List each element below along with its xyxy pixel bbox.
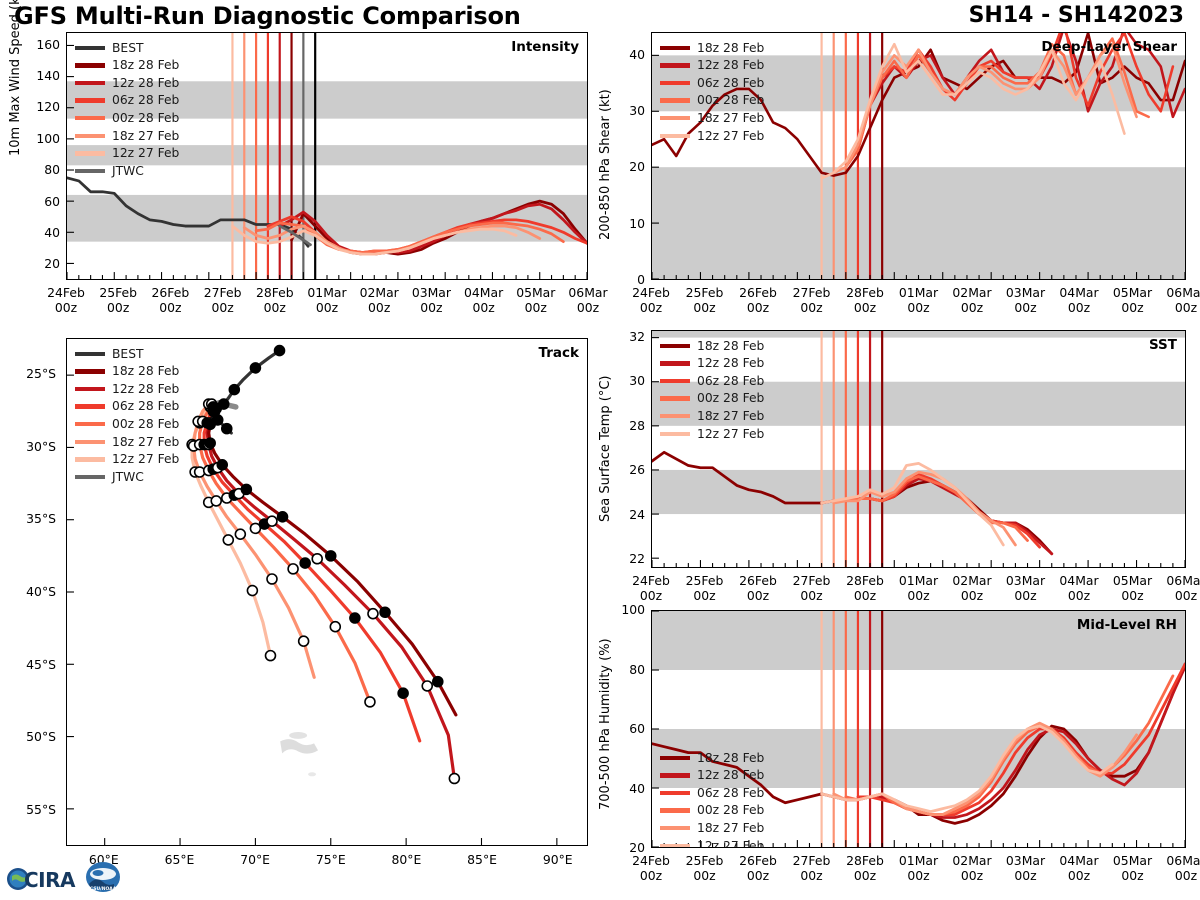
legend-label: 12z 27 Feb [112,147,179,159]
track-marker [365,697,375,707]
shear-panel-title: Deep-Layer Shear [1041,39,1177,55]
track-y-tick-label: 35°S [4,511,56,526]
legend-label: JTWC [112,471,144,483]
landmass [308,772,316,776]
legend-item-06z-28-feb: 06z 28 Feb [660,372,764,390]
legend-label: 12z 27 Feb [697,840,764,848]
legend-label: BEST [112,42,144,54]
rh-panel: Mid-Level RH 18z 28 Feb12z 28 Feb06z 28 … [651,610,1186,848]
legend-item-jtwc: JTWC [75,162,179,180]
track-panel: Track BEST18z 28 Feb12z 28 Feb06z 28 Feb… [66,338,588,846]
legend-swatch-icon [660,134,690,138]
legend-label: 12z 28 Feb [697,357,764,369]
legend-label: 18z 28 Feb [697,340,764,352]
intensity-y-tick-label: 20 [20,256,60,271]
cira-logo: CIRA CSU/NOAA [5,855,123,899]
legend-label: 18z 28 Feb [112,365,179,377]
intensity-y-tick-label: 40 [20,225,60,240]
track-marker [422,681,432,691]
track-x-tick-label: 65°E [145,852,213,867]
intensity-panel: Intensity BEST18z 28 Feb12z 28 Feb06z 28… [66,32,588,280]
sst-panel-title: SST [1149,337,1177,353]
track-marker [229,385,239,395]
legend-label: JTWC [112,165,144,177]
legend-item-06z-28-feb: 06z 28 Feb [75,398,179,416]
legend-item-best: BEST [75,345,179,363]
track-marker [326,551,336,561]
intensity-panel-title: Intensity [511,39,579,55]
track-marker [398,688,408,698]
sst-panel: SST 18z 28 Feb12z 28 Feb06z 28 Feb00z 28… [651,330,1186,568]
legend-item-12z-28-feb: 12z 28 Feb [660,57,764,75]
legend-item-18z-27-feb: 18z 27 Feb [660,407,764,425]
track-marker [299,636,309,646]
legend-item-06z-28-feb: 06z 28 Feb [75,92,179,110]
legend-item-18z-27-feb: 18z 27 Feb [660,109,764,127]
legend-label: 06z 28 Feb [112,94,179,106]
shear-panel: Deep-Layer Shear 18z 28 Feb12z 28 Feb06z… [651,32,1186,280]
legend-label: 18z 27 Feb [112,436,179,448]
rh-y-tick-label: 100 [605,602,645,617]
legend-item-12z-28-feb: 12z 28 Feb [75,380,179,398]
shear-legend: 18z 28 Feb12z 28 Feb06z 28 Feb00z 28 Feb… [660,39,764,145]
storm-identifier: SH14 - SH142023 [969,3,1184,28]
legend-label: 18z 27 Feb [112,130,179,142]
intensity-x-tick-label: 06Mar00z [554,285,622,316]
track-marker [330,622,340,632]
legend-swatch-icon [75,440,105,444]
legend-item-00z-28-feb: 00z 28 Feb [75,109,179,127]
legend-label: 06z 28 Feb [697,77,764,89]
legend-item-12z-27-feb: 12z 27 Feb [75,451,179,469]
legend-swatch-icon [75,457,105,461]
legend-label: 12z 28 Feb [697,59,764,71]
legend-swatch-icon [75,387,105,391]
rh-panel-title: Mid-Level RH [1077,617,1177,633]
track-marker [235,529,245,539]
legend-label: 12z 27 Feb [697,428,764,440]
legend-swatch-icon [660,808,690,812]
legend-swatch-icon [660,116,690,120]
sst-y-tick-label: 24 [605,507,645,522]
track-marker [267,574,277,584]
svg-text:CIRA: CIRA [24,868,76,892]
legend-item-best: BEST [75,39,179,57]
legend-item-18z-28-feb: 18z 28 Feb [660,337,764,355]
legend-swatch-icon [75,116,105,120]
track-marker [250,363,260,373]
legend-item-06z-28-feb: 06z 28 Feb [660,74,764,92]
legend-item-jtwc: JTWC [75,468,179,486]
rh-y-tick-label: 80 [605,662,645,677]
intensity-y-tick-label: 160 [20,37,60,52]
legend-item-18z-28-feb: 18z 28 Feb [660,39,764,57]
track-y-tick-label: 55°S [4,802,56,817]
track-marker [217,460,227,470]
legend-swatch-icon [660,756,690,760]
legend-item-18z-27-feb: 18z 27 Feb [75,127,179,145]
track-y-tick-label: 45°S [4,657,56,672]
legend-swatch-icon [75,169,105,173]
legend-label: 18z 27 Feb [697,112,764,124]
legend-swatch-icon [660,361,690,365]
shear-y-tick-label: 10 [605,216,645,231]
legend-swatch-icon [660,63,690,67]
track-marker [449,774,459,784]
track-marker [222,424,232,434]
track-x-tick-label: 75°E [297,852,365,867]
shear-y-tick-label: 40 [605,47,645,62]
legend-swatch-icon [75,81,105,85]
legend-swatch-icon [75,98,105,102]
track-marker [288,564,298,574]
intensity-y-tick-label: 140 [20,68,60,83]
track-x-tick-label: 90°E [524,852,592,867]
rh-y-tick-label: 60 [605,721,645,736]
legend-label: 18z 27 Feb [697,410,764,422]
legend-item-18z-28-feb: 18z 28 Feb [75,363,179,381]
track-marker [267,516,277,526]
legend-swatch-icon [660,379,690,383]
sst-y-tick-label: 30 [605,373,645,388]
sst-y-tick-label: 32 [605,329,645,344]
legend-item-18z-28-feb: 18z 28 Feb [75,57,179,75]
legend-swatch-icon [660,414,690,418]
legend-swatch-icon [75,404,105,408]
legend-label: BEST [112,348,144,360]
shaded-band [652,167,1185,279]
track-marker [213,415,223,425]
track-marker [368,609,378,619]
legend-swatch-icon [75,475,105,479]
legend-label: 00z 28 Feb [697,392,764,404]
sst-y-axis-title: Sea Surface Temp (°C) [598,375,613,522]
legend-label: 12z 27 Feb [112,453,179,465]
track-y-tick-label: 50°S [4,729,56,744]
track-marker [433,677,443,687]
legend-label: 12z 28 Feb [112,383,179,395]
track-marker [211,496,221,506]
track-marker [247,586,257,596]
legend-label: 00z 28 Feb [112,112,179,124]
track-marker [275,346,285,356]
track-line [204,407,420,741]
legend-item-12z-27-feb: 12z 27 Feb [75,145,179,163]
legend-item-12z-28-feb: 12z 28 Feb [660,767,764,785]
legend-item-12z-27-feb: 12z 27 Feb [660,127,764,145]
intensity-y-tick-label: 100 [20,131,60,146]
legend-swatch-icon [660,844,690,848]
legend-label: 00z 28 Feb [697,94,764,106]
legend-swatch-icon [660,81,690,85]
legend-label: 18z 28 Feb [697,752,764,764]
legend-label: 06z 28 Feb [697,787,764,799]
track-legend: BEST18z 28 Feb12z 28 Feb06z 28 Feb00z 28… [75,345,179,486]
track-y-tick-label: 40°S [4,584,56,599]
legend-swatch-icon [75,369,105,373]
track-marker [278,512,288,522]
track-line [209,411,456,715]
legend-item-00z-28-feb: 00z 28 Feb [660,390,764,408]
sst-legend: 18z 28 Feb12z 28 Feb06z 28 Feb00z 28 Feb… [660,337,764,443]
track-line [200,404,370,702]
intensity-y-tick-label: 80 [20,162,60,177]
legend-swatch-icon [75,46,105,50]
track-marker [265,651,275,661]
legend-label: 06z 28 Feb [697,375,764,387]
legend-item-18z-27-feb: 18z 27 Feb [660,819,764,837]
track-marker [223,535,233,545]
legend-label: 18z 28 Feb [112,59,179,71]
legend-item-18z-28-feb: 18z 28 Feb [660,749,764,767]
legend-swatch-icon [660,46,690,50]
legend-swatch-icon [660,773,690,777]
intensity-y-tick-label: 120 [20,99,60,114]
track-marker [300,558,310,568]
landmass [289,732,307,739]
sst-y-tick-label: 28 [605,418,645,433]
track-x-tick-label: 85°E [448,852,516,867]
track-marker [350,613,360,623]
diagnostic-comparison-page: GFS Multi-Run Diagnostic Comparison SH14… [0,0,1200,900]
legend-label: 00z 28 Feb [697,804,764,816]
legend-item-00z-28-feb: 00z 28 Feb [660,92,764,110]
legend-label: 06z 28 Feb [112,400,179,412]
legend-label: 18z 28 Feb [697,42,764,54]
legend-item-00z-28-feb: 00z 28 Feb [75,415,179,433]
legend-swatch-icon [660,791,690,795]
track-y-tick-label: 30°S [4,439,56,454]
legend-label: 12z 27 Feb [697,130,764,142]
legend-swatch-icon [660,826,690,830]
legend-swatch-icon [660,432,690,436]
track-marker [380,607,390,617]
track-panel-title: Track [539,345,579,361]
legend-swatch-icon [75,151,105,155]
legend-swatch-icon [75,352,105,356]
track-x-tick-label: 70°E [221,852,289,867]
track-y-tick-label: 25°S [4,366,56,381]
legend-swatch-icon [660,344,690,348]
legend-swatch-icon [660,98,690,102]
landmass [280,739,318,753]
track-marker [312,554,322,564]
legend-item-00z-28-feb: 00z 28 Feb [660,802,764,820]
sst-x-tick-label: 06Mar00z [1152,573,1200,604]
track-marker [241,484,251,494]
legend-swatch-icon [75,422,105,426]
legend-item-12z-28-feb: 12z 28 Feb [75,74,179,92]
sst-y-tick-label: 22 [605,551,645,566]
shear-x-tick-label: 06Mar00z [1152,285,1200,316]
svg-text:CSU/NOAA: CSU/NOAA [90,886,117,892]
legend-label: 00z 28 Feb [112,418,179,430]
legend-item-06z-28-feb: 06z 28 Feb [660,784,764,802]
legend-item-12z-28-feb: 12z 28 Feb [660,355,764,373]
shear-y-tick-label: 20 [605,159,645,174]
legend-label: 12z 28 Feb [112,77,179,89]
intensity-y-tick-label: 60 [20,194,60,209]
legend-item-12z-27-feb: 12z 27 Feb [660,837,764,848]
shear-y-tick-label: 30 [605,103,645,118]
track-x-tick-label: 80°E [372,852,440,867]
legend-swatch-icon [75,134,105,138]
legend-swatch-icon [75,63,105,67]
track-marker [205,438,215,448]
page-title: GFS Multi-Run Diagnostic Comparison [14,2,521,30]
rh-y-tick-label: 40 [605,781,645,796]
track-line [207,408,454,778]
legend-label: 12z 28 Feb [697,769,764,781]
rh-legend: 18z 28 Feb12z 28 Feb06z 28 Feb00z 28 Feb… [660,749,764,848]
legend-item-18z-27-feb: 18z 27 Feb [75,433,179,451]
rh-x-tick-label: 06Mar00z [1152,853,1200,884]
intensity-legend: BEST18z 28 Feb12z 28 Feb06z 28 Feb00z 28… [75,39,179,180]
sst-y-tick-label: 26 [605,462,645,477]
legend-label: 18z 27 Feb [697,822,764,834]
legend-item-12z-27-feb: 12z 27 Feb [660,425,764,443]
legend-swatch-icon [660,396,690,400]
